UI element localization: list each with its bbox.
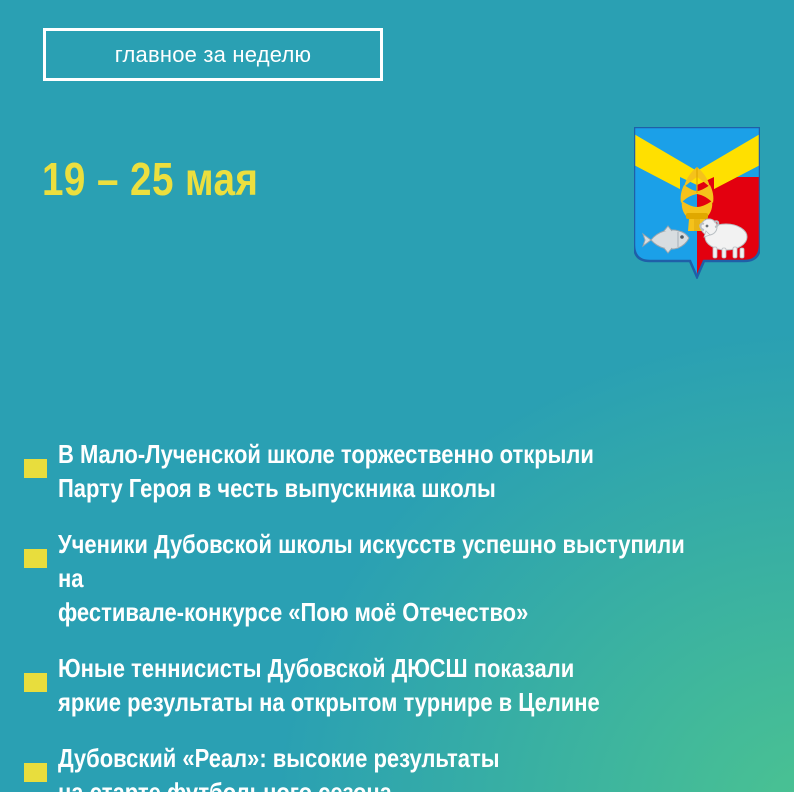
news-headline: Дубовский «Реал»: высокие результаты на …	[58, 741, 698, 792]
bullet-square-icon	[24, 459, 47, 478]
list-item[interactable]: В Мало-Лученской школе торжественно откр…	[0, 437, 700, 527]
coat-of-arms-emblem	[634, 127, 760, 279]
date-range-label: 19 – 25 мая	[42, 156, 709, 202]
kicker-box: главное за неделю	[43, 28, 383, 81]
list-item[interactable]: Юные теннисисты Дубовской ДЮСШ показали …	[0, 651, 700, 741]
list-item[interactable]: Дубовский «Реал»: высокие результаты на …	[0, 741, 700, 792]
news-list: В Мало-Лученской школе торжественно откр…	[0, 437, 700, 792]
bullet-square-icon	[24, 763, 47, 782]
bullet-square-icon	[24, 549, 47, 568]
bullet-square-icon	[24, 673, 47, 692]
list-item[interactable]: Ученики Дубовской школы искусств успешно…	[0, 527, 700, 651]
news-headline: В Мало-Лученской школе торжественно откр…	[58, 437, 698, 505]
news-headline: Ученики Дубовской школы искусств успешно…	[58, 527, 698, 629]
kicker-label: главное за неделю	[115, 42, 311, 68]
poster-canvas: главное за неделю 19 – 25 мая	[0, 0, 794, 792]
news-headline: Юные теннисисты Дубовской ДЮСШ показали …	[58, 651, 698, 719]
